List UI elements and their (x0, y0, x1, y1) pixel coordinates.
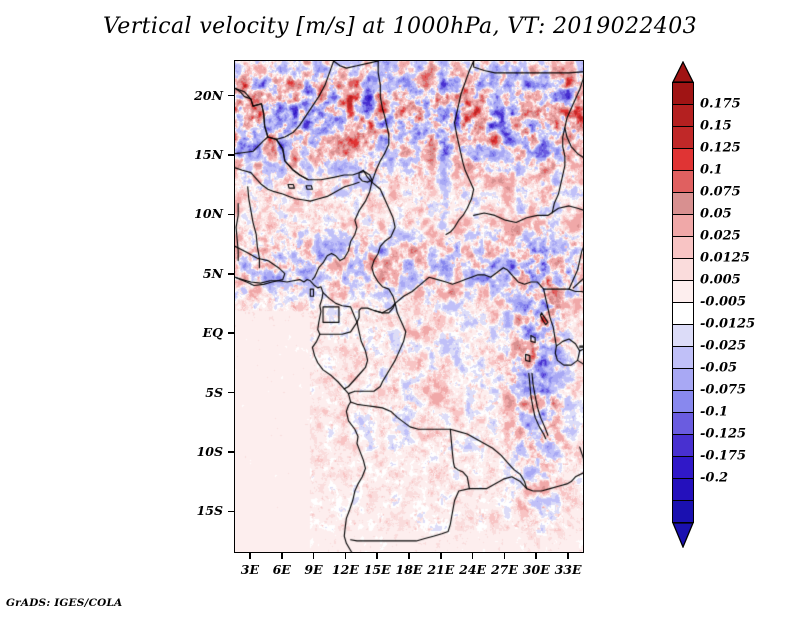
colorbar-band (672, 390, 694, 413)
colorbar-tick-label: -0.1 (700, 405, 728, 420)
colorbar-tick-label: 0.1 (700, 163, 723, 178)
colorbar-band (672, 324, 694, 347)
country-borders-overlay (235, 61, 584, 553)
y-tick-label: 20N (0, 88, 223, 103)
colorbar-tick-label: -0.05 (700, 361, 737, 376)
colorbar-band (672, 170, 694, 193)
x-tick-mark (472, 553, 474, 559)
colorbar-tick-label: -0.075 (700, 383, 746, 398)
colorbar-band (672, 478, 694, 501)
colorbar-band (672, 258, 694, 281)
x-tick-mark (313, 553, 315, 559)
y-tick-mark (228, 273, 234, 275)
x-tick-mark (376, 553, 378, 559)
footer-credit: GrADS: IGES/COLA (6, 597, 122, 609)
colorbar-band (672, 126, 694, 149)
y-tick-mark (228, 392, 234, 394)
colorbar-band (672, 434, 694, 457)
colorbar-band (672, 302, 694, 325)
y-tick-label: 15N (0, 147, 223, 162)
colorbar-tick-label: -0.2 (700, 471, 728, 486)
colorbar-tick-label: -0.005 (700, 295, 746, 310)
x-tick-label: 33E (546, 562, 590, 577)
colorbar-band (672, 456, 694, 479)
colorbar-tick-label: 0.175 (700, 97, 741, 112)
x-tick-mark (504, 553, 506, 559)
y-tick-label: 10S (0, 444, 223, 459)
colorbar-band (672, 82, 694, 105)
colorbar-tick-label: 0.075 (700, 185, 741, 200)
y-tick-label: EQ (0, 325, 223, 340)
colorbar-band (672, 214, 694, 237)
x-tick-mark (440, 553, 442, 559)
colorbar-band (672, 104, 694, 127)
colorbar-tick-label: 0.15 (700, 119, 732, 134)
y-tick-mark (228, 451, 234, 453)
colorbar-tick-label: 0.05 (700, 207, 732, 222)
y-tick-label: 10N (0, 206, 223, 221)
colorbar-band (672, 148, 694, 171)
x-tick-mark (249, 553, 251, 559)
colorbar-tick-label: 0.0125 (700, 251, 750, 266)
y-tick-mark (228, 511, 234, 513)
x-tick-mark (408, 553, 410, 559)
colorbar-band (672, 192, 694, 215)
colorbar-tick-label: -0.025 (700, 339, 746, 354)
colorbar-band (672, 368, 694, 391)
x-tick-mark (345, 553, 347, 559)
y-tick-mark (228, 332, 234, 334)
colorbar-tick-label: 0.025 (700, 229, 741, 244)
colorbar-band (672, 236, 694, 259)
y-tick-mark (228, 214, 234, 216)
colorbar-band (672, 500, 694, 523)
y-tick-label: 15S (0, 503, 223, 518)
y-tick-mark (228, 154, 234, 156)
colorbar-band (672, 346, 694, 369)
page-title: Vertical velocity [m/s] at 1000hPa, VT: … (0, 14, 800, 39)
colorbar-tick-label: -0.125 (700, 427, 746, 442)
y-tick-label: 5N (0, 266, 223, 281)
map-plot-area (234, 60, 584, 553)
colorbar-tick-label: -0.175 (700, 449, 746, 464)
x-tick-mark (567, 553, 569, 559)
y-tick-mark (228, 95, 234, 97)
colorbar-tick-label: 0.125 (700, 141, 741, 156)
x-tick-mark (535, 553, 537, 559)
colorbar-band (672, 280, 694, 303)
colorbar-arrow-top (672, 61, 694, 83)
x-tick-mark (281, 553, 283, 559)
y-tick-label: 5S (0, 385, 223, 400)
colorbar-band (672, 412, 694, 435)
colorbar-tick-label: -0.0125 (700, 317, 755, 332)
colorbar-arrow-bottom (672, 522, 694, 548)
colorbar (672, 82, 694, 522)
colorbar-tick-label: 0.005 (700, 273, 741, 288)
